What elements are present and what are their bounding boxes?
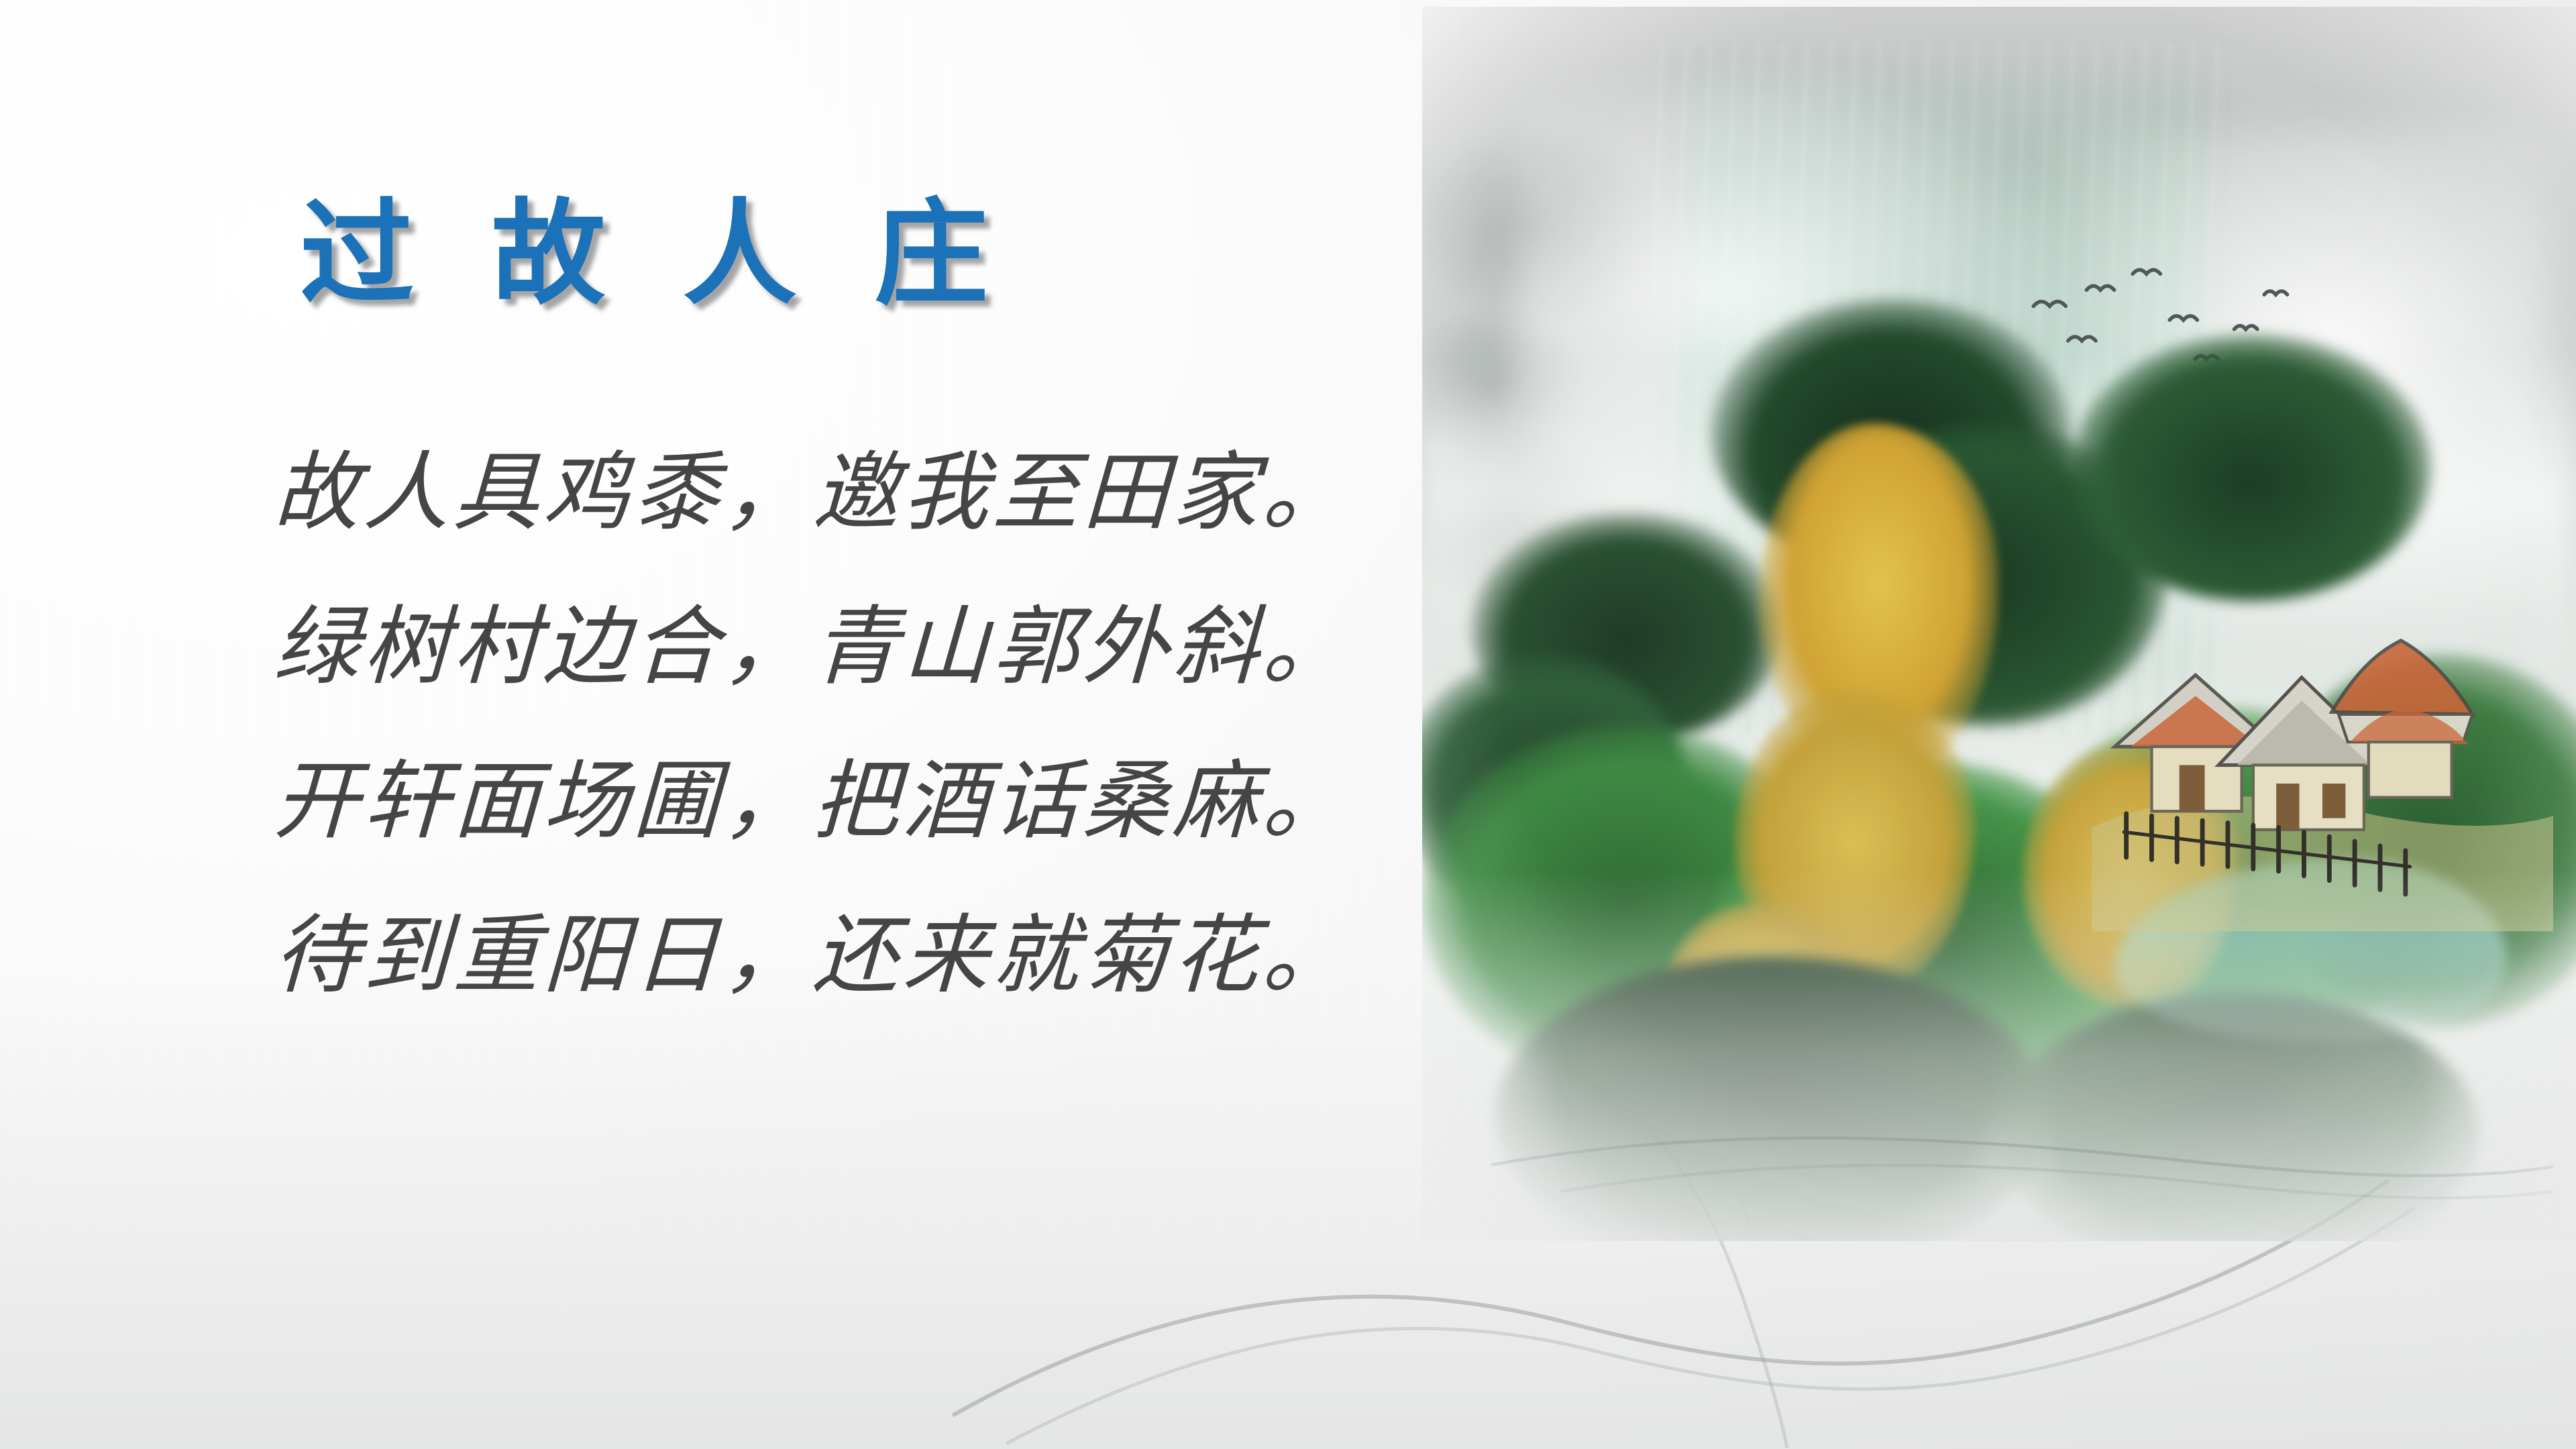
- poem-text-column: 过 故 人 庄 故人具鸡黍，邀我至田家。 绿树村边合，青山郭外斜。 开轩面场圃，…: [0, 0, 1462, 1449]
- slide-canvas: 过 故 人 庄 故人具鸡黍，邀我至田家。 绿树村边合，青山郭外斜。 开轩面场圃，…: [0, 0, 2576, 1449]
- landscape-painting-canvas: [1422, 7, 2576, 1241]
- poem-line-4: 待到重阳日，还来就菊花。: [271, 879, 1457, 1033]
- landscape-illustration: [1422, 7, 2576, 1241]
- page-title: 过 故 人 庄: [201, 195, 1087, 315]
- poem-line-1: 故人具鸡黍，邀我至田家。: [271, 416, 1457, 570]
- painting-water-ripple: [1422, 1093, 2576, 1216]
- poem-body: 故人具鸡黍，邀我至田家。 绿树村边合，青山郭外斜。 开轩面场圃，把酒话桑麻。 待…: [274, 416, 1454, 1033]
- poem-line-2: 绿树村边合，青山郭外斜。: [271, 570, 1457, 724]
- poem-line-3: 开轩面场圃，把酒话桑麻。: [271, 724, 1457, 879]
